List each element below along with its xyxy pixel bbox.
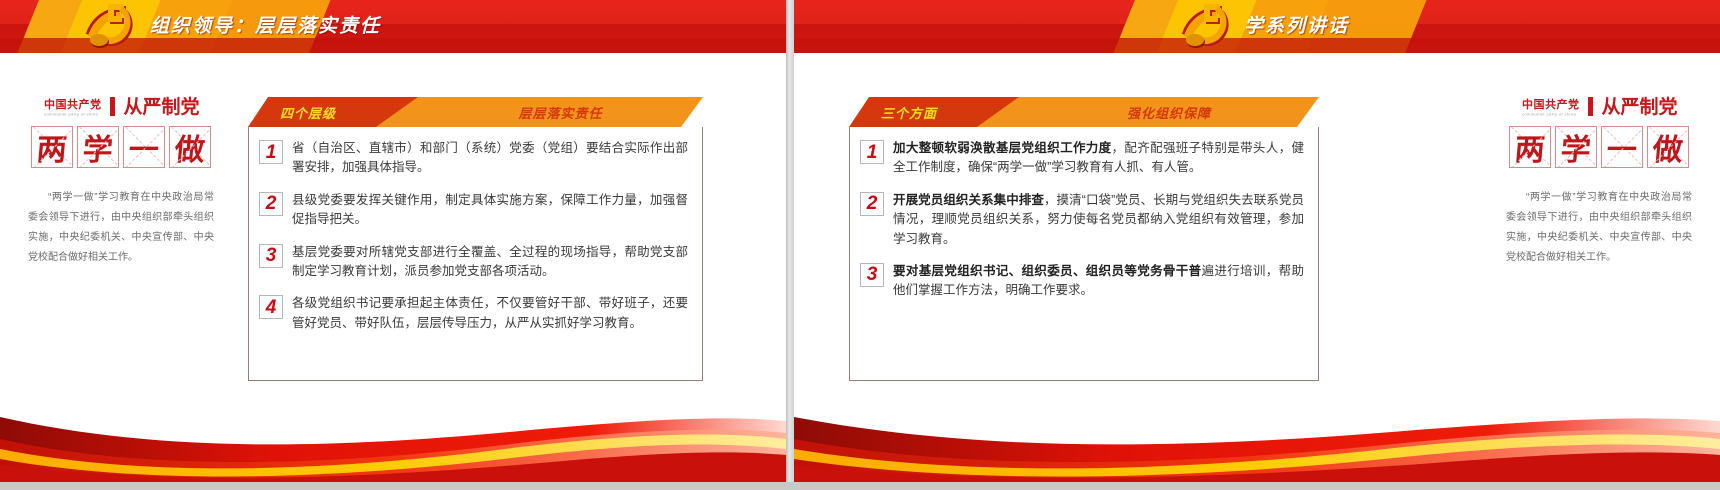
ribbon-header: 四个层级 层层落实责任 xyxy=(248,97,703,127)
item-number: 2 xyxy=(259,192,283,216)
slide-body-right: 中国共产党 communist party of china 从严制党 两 学 … xyxy=(794,53,1720,388)
calligraphy-char: 做 xyxy=(1647,127,1689,167)
party-emblem-icon xyxy=(78,3,140,50)
item-text: 县级党委要发挥关键作用，制定具体实施方案，保障工作力量，加强督促指导把关。 xyxy=(292,191,688,230)
sidebar-paragraph: “两学一做”学习教育在中央政治局常委会领导下进行，由中央组织部牵头组织实施，中央… xyxy=(22,188,220,268)
calligraphy-box: 做 xyxy=(1647,126,1689,168)
item-text-bold: 要对基层党组织书记、组织委员、组织员等党务骨干普 xyxy=(893,264,1202,278)
brand-divider-bar xyxy=(110,97,115,116)
calligraphy-row: 两 学 一 做 xyxy=(1500,126,1698,168)
calligraphy-box: 两 xyxy=(1509,126,1551,168)
brand-org-en: communist party of china xyxy=(1522,113,1580,117)
brand-row: 中国共产党 communist party of china 从严制党 xyxy=(22,97,220,117)
list-item: 2 县级党委要发挥关键作用，制定具体实施方案，保障工作力量，加强督促指导把关。 xyxy=(259,191,688,230)
calligraphy-box: 一 xyxy=(1601,126,1643,168)
ribbon-left-label: 三个方面 xyxy=(881,103,937,122)
item-number: 1 xyxy=(860,140,884,164)
item-text-bold: 加大整顿软弱涣散基层党组织工作力度 xyxy=(893,141,1112,155)
brand-org-en: communist party of china xyxy=(44,113,102,117)
list-item: 4 各级党组织书记要承担起主体责任，不仅要管好干部、带好班子，还要管好党员、带好… xyxy=(259,294,688,333)
header-title: 组织领导：层层落实责任 xyxy=(150,11,381,38)
ribbon-right-label: 层层落实责任 xyxy=(418,103,703,122)
brand-org-name: 中国共产党 communist party of china xyxy=(44,100,102,117)
calligraphy-char: 两 xyxy=(31,127,73,167)
calligraphy-char: 学 xyxy=(77,127,119,167)
calligraphy-char: 一 xyxy=(123,127,165,167)
bottom-bar xyxy=(0,482,1720,490)
footer-wave-decoration xyxy=(0,387,786,482)
item-number: 3 xyxy=(259,244,283,268)
content-card-right: 三个方面 强化组织保障 1 加大整顿软弱涣散基层党组织工作力度，配齐配强班子特别… xyxy=(849,97,1319,381)
brand-slogan: 从严制党 xyxy=(1602,98,1678,117)
content-panel: 1 省（自治区、直辖市）和部门（系统）党委（党组）要结合实际作出部署安排，加强具… xyxy=(248,127,703,381)
slide-gutter xyxy=(786,0,794,490)
item-text: 基层党委要对所辖党支部进行全覆盖、全过程的现场指导，帮助党支部制定学习教育计划，… xyxy=(292,243,688,282)
brand-org-cn: 中国共产党 xyxy=(1522,99,1580,111)
sidebar-brand-left: 中国共产党 communist party of china 从严制党 两 学 … xyxy=(22,97,220,268)
brand-org-name: 中国共产党 communist party of china xyxy=(1522,100,1580,117)
list-item: 1 加大整顿软弱涣散基层党组织工作力度，配齐配强班子特别是带头人，健全工作制度，… xyxy=(860,139,1304,178)
brand-row: 中国共产党 communist party of china 从严制党 xyxy=(1500,97,1698,117)
footer-wave-decoration xyxy=(794,387,1720,482)
content-panel: 1 加大整顿软弱涣散基层党组织工作力度，配齐配强班子特别是带头人，健全工作制度，… xyxy=(849,127,1319,381)
header-dark-band xyxy=(794,38,1720,53)
item-number: 4 xyxy=(259,295,283,319)
ribbon-header: 三个方面 强化组织保障 xyxy=(849,97,1319,127)
header-title: 学系列讲话 xyxy=(1244,11,1349,38)
item-text: 开展党员组织关系集中排查，摸清“口袋”党员、长期与党组织失去联系党员情况，理顺党… xyxy=(893,191,1304,249)
list-item: 1 省（自治区、直辖市）和部门（系统）党委（党组）要结合实际作出部署安排，加强具… xyxy=(259,139,688,178)
item-text: 要对基层党组织书记、组织委员、组织员等党务骨干普遍进行培训，帮助他们掌握工作方法… xyxy=(893,262,1304,301)
ribbon-left-label: 四个层级 xyxy=(280,103,336,122)
item-text: 加大整顿软弱涣散基层党组织工作力度，配齐配强班子特别是带头人，健全工作制度，确保… xyxy=(893,139,1304,178)
sidebar-brand-right: 中国共产党 communist party of china 从严制党 两 学 … xyxy=(1500,97,1698,268)
item-text-bold: 开展党员组织关系集中排查 xyxy=(893,193,1044,207)
slide-header-left: 组织领导：层层落实责任 xyxy=(0,0,786,53)
calligraphy-char: 学 xyxy=(1555,127,1597,167)
item-number: 1 xyxy=(259,140,283,164)
slideshow-stage: 组织领导：层层落实责任 中国共产党 communist party of chi… xyxy=(0,0,1720,490)
calligraphy-row: 两 学 一 做 xyxy=(22,126,220,168)
list-item: 3 基层党委要对所辖党支部进行全覆盖、全过程的现场指导，帮助党支部制定学习教育计… xyxy=(259,243,688,282)
slide-left: 组织领导：层层落实责任 中国共产党 communist party of chi… xyxy=(0,0,786,482)
item-text: 省（自治区、直辖市）和部门（系统）党委（党组）要结合实际作出部署安排，加强具体指… xyxy=(292,139,688,178)
calligraphy-box: 学 xyxy=(77,126,119,168)
calligraphy-char: 做 xyxy=(169,127,211,167)
item-number: 3 xyxy=(860,263,884,287)
item-text: 各级党组织书记要承担起主体责任，不仅要管好干部、带好班子，还要管好党员、带好队伍… xyxy=(292,294,688,333)
party-emblem-icon xyxy=(1174,3,1236,50)
list-item: 3 要对基层党组织书记、组织委员、组织员等党务骨干普遍进行培训，帮助他们掌握工作… xyxy=(860,262,1304,301)
slide-body-left: 中国共产党 communist party of china 从严制党 两 学 … xyxy=(0,53,786,388)
item-number: 2 xyxy=(860,192,884,216)
brand-slogan: 从严制党 xyxy=(124,98,200,117)
content-card-left: 四个层级 层层落实责任 1 省（自治区、直辖市）和部门（系统）党委（党组）要结合… xyxy=(248,97,703,381)
sidebar-paragraph: “两学一做”学习教育在中央政治局常委会领导下进行，由中央组织部牵头组织实施，中央… xyxy=(1500,188,1698,268)
brand-divider-bar xyxy=(1588,97,1593,116)
calligraphy-char: 一 xyxy=(1601,127,1643,167)
calligraphy-box: 一 xyxy=(123,126,165,168)
slide-right: 学系列讲话 中国共产党 communist party of china 从严制… xyxy=(794,0,1720,482)
ribbon-right-label: 强化组织保障 xyxy=(1019,103,1319,122)
calligraphy-box: 学 xyxy=(1555,126,1597,168)
brand-org-cn: 中国共产党 xyxy=(44,99,102,111)
calligraphy-box: 两 xyxy=(31,126,73,168)
list-item: 2 开展党员组织关系集中排查，摸清“口袋”党员、长期与党组织失去联系党员情况，理… xyxy=(860,191,1304,249)
calligraphy-char: 两 xyxy=(1509,127,1551,167)
calligraphy-box: 做 xyxy=(169,126,211,168)
slide-header-right: 学系列讲话 xyxy=(794,0,1720,53)
